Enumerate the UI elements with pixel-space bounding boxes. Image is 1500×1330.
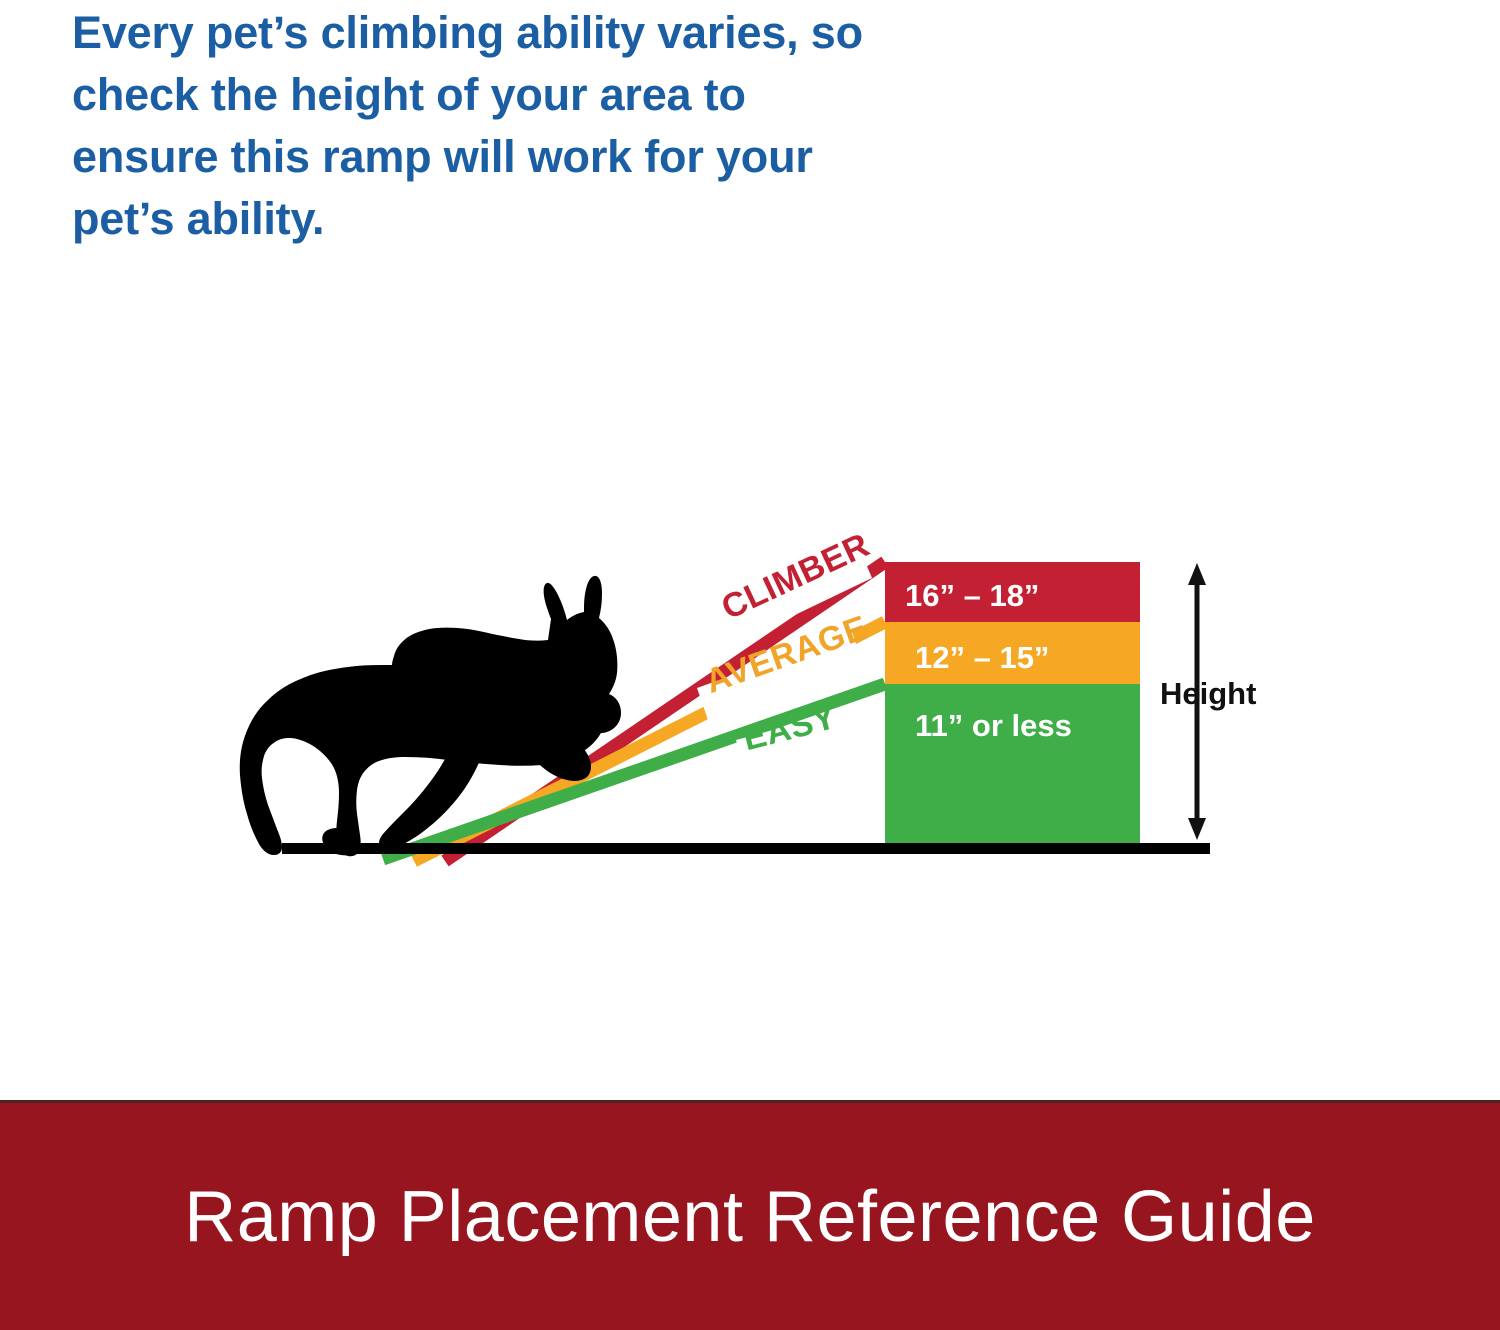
ground-line (282, 843, 1210, 854)
height-arrow-head-top (1188, 563, 1206, 585)
height-arrow-head-bottom (1188, 818, 1206, 840)
ramp-placement-diagram: Height 16” – 18” 12” – 15” 11” or less C… (0, 0, 1500, 1090)
bottom-banner: Ramp Placement Reference Guide (0, 1100, 1500, 1330)
climber-range-label: 16” – 18” (905, 578, 1039, 614)
banner-title: Ramp Placement Reference Guide (184, 1176, 1316, 1258)
height-label: Height (1160, 676, 1256, 712)
infographic-page: Every pet’s climbing ability varies, so … (0, 0, 1500, 1330)
average-range-label: 12” – 15” (915, 640, 1049, 676)
diagram-canvas (0, 0, 1500, 1090)
easy-range-label: 11” or less (915, 708, 1072, 744)
